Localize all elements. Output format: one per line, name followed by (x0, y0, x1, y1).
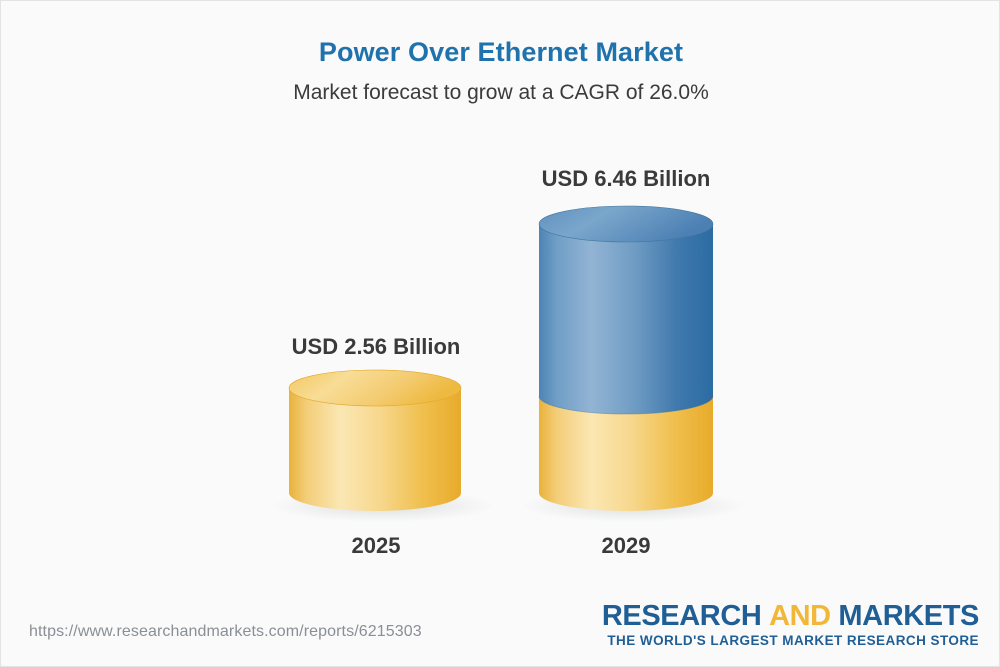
value-label-2029: USD 6.46 Billion (466, 166, 786, 192)
value-label-2025: USD 2.56 Billion (216, 334, 536, 360)
category-label-2029: 2029 (466, 533, 786, 559)
chart-plot-area: USD 2.56 Billion USD 6.46 Billion 2025 2… (1, 1, 1000, 667)
logo-word-markets: MARKETS (838, 600, 979, 632)
researchandmarkets-logo[interactable]: RESEARCH AND MARKETS THE WORLD'S LARGEST… (602, 601, 979, 648)
report-url[interactable]: https://www.researchandmarkets.com/repor… (29, 623, 422, 641)
bar-2029-top-cap (539, 206, 713, 242)
logo-tagline: THE WORLD'S LARGEST MARKET RESEARCH STOR… (602, 633, 979, 648)
logo-word-research: RESEARCH (602, 600, 762, 632)
bar-cylinder-2029[interactable] (539, 206, 713, 511)
infographic-canvas: Power Over Ethernet Market Market foreca… (0, 0, 1000, 667)
logo-wordmark: RESEARCH AND MARKETS (602, 601, 979, 631)
logo-word-and: AND (769, 600, 831, 632)
bar-cylinder-2025[interactable] (289, 370, 461, 511)
bar-2025-body (289, 388, 461, 511)
bar-2029-growth-segment (539, 224, 713, 414)
